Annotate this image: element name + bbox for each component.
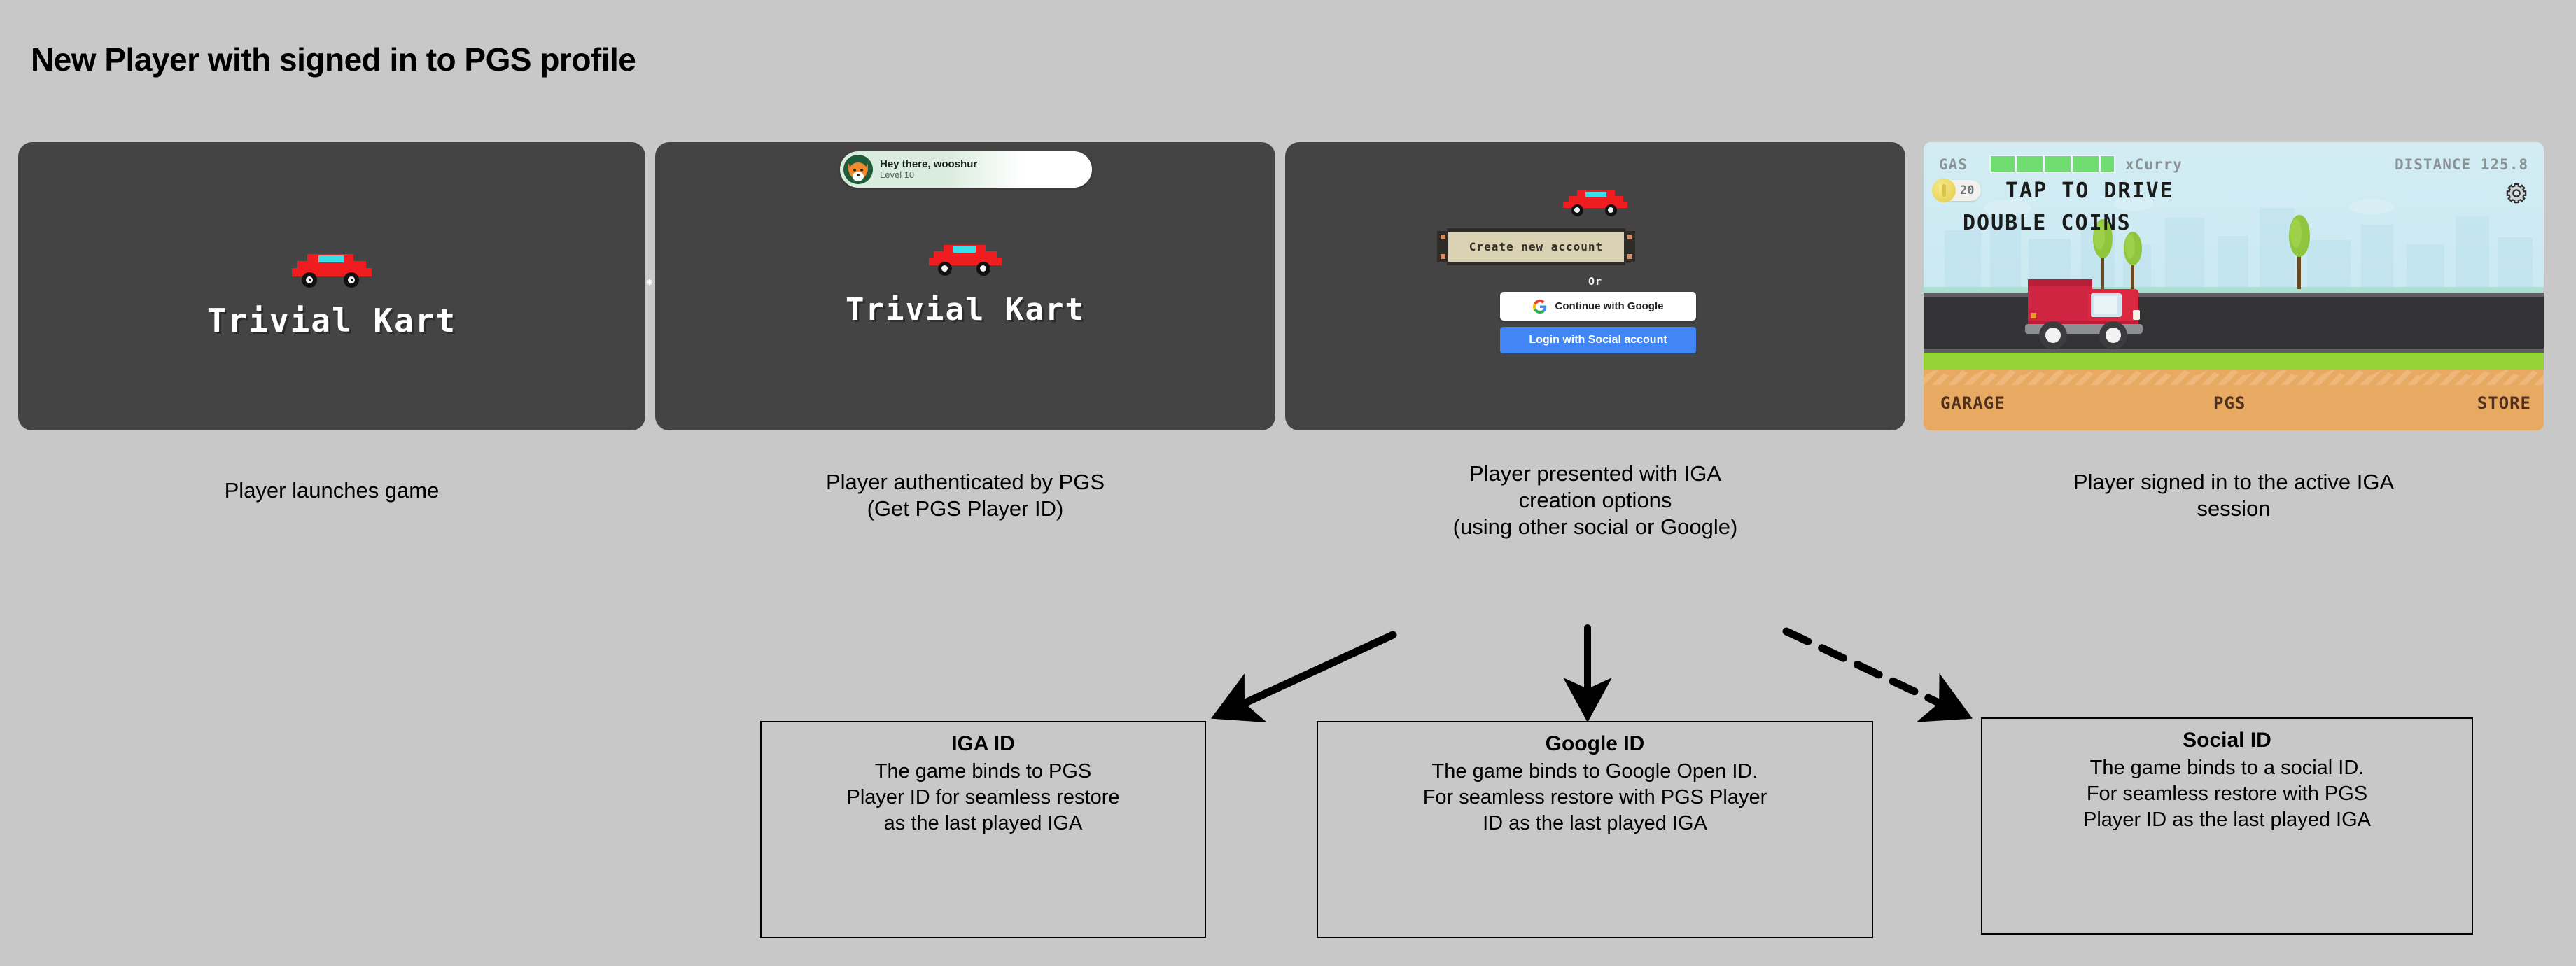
- login-with-social-button[interactable]: Login with Social account: [1500, 327, 1696, 353]
- caption-panel-3: Player presented with IGA creation optio…: [1285, 461, 1905, 540]
- splash-game-title: Trivial Kart: [655, 292, 1275, 328]
- horizon-strip: [1924, 287, 2544, 293]
- nav-item-pgs[interactable]: PGS: [2213, 393, 2246, 413]
- arrow-to-social-id: [1786, 631, 1966, 715]
- gas-label: GAS: [1939, 156, 1968, 173]
- tap-to-drive-headline: TAP TO DRIVE: [2005, 178, 2174, 203]
- or-separator-label: Or: [1285, 275, 1905, 288]
- continue-with-google-label: Continue with Google: [1555, 300, 1664, 312]
- tree-icon: [2286, 215, 2313, 289]
- gas-gauge: [1989, 155, 2115, 173]
- flow-box-body: The game binds to PGS Player ID for seam…: [771, 759, 1195, 836]
- coin-count-value: 20: [1960, 183, 1974, 197]
- create-new-account-label: Create new account: [1469, 240, 1603, 253]
- fox-avatar-icon: [843, 155, 873, 184]
- flow-box-body: The game binds to a social ID. For seaml…: [1992, 755, 2462, 833]
- caption-panel-2: Player authenticated by PGS (Get PGS Pla…: [655, 469, 1275, 522]
- splash-game-title: Trivial Kart: [18, 302, 645, 339]
- panel-pgs-authenticated: Hey there, wooshur Level 10 Trivial Kart: [655, 142, 1275, 430]
- coin-counter: 20: [1940, 180, 1981, 201]
- flow-box-social-id: Social ID The game binds to a social ID.…: [1981, 717, 2473, 934]
- login-with-social-label: Login with Social account: [1529, 334, 1667, 346]
- player-name-label: xCurry: [2125, 156, 2183, 173]
- flow-box-iga-id: IGA ID The game binds to PGS Player ID f…: [760, 721, 1206, 938]
- pgs-greeting-banner[interactable]: Hey there, wooshur Level 10: [840, 151, 1092, 188]
- distance-label: DISTANCE 125.8: [2395, 156, 2528, 173]
- flow-box-google-id: Google ID The game binds to Google Open …: [1317, 721, 1873, 938]
- flow-box-body: The game binds to Google Open ID. For se…: [1328, 759, 1862, 836]
- panel-iga-creation-options: Create new account Or Continue with Goog…: [1285, 142, 1905, 430]
- road-surface: [1924, 293, 2544, 353]
- google-g-icon: [1533, 300, 1547, 314]
- red-kart-icon: [924, 240, 1007, 275]
- nav-item-garage[interactable]: GARAGE: [1940, 393, 2005, 413]
- red-kart-icon: [286, 248, 377, 288]
- gear-icon[interactable]: [2506, 183, 2527, 204]
- red-kart-icon: [1559, 188, 1632, 216]
- flow-box-title: Google ID: [1328, 731, 1862, 757]
- caption-panel-1: Player launches game: [18, 477, 645, 504]
- panel-player-launches-game: Trivial Kart: [18, 142, 645, 430]
- panel-connector-icon: ⁕: [645, 277, 654, 288]
- panel-active-iga-session: GAS xCurry DISTANCE 125.8 20 TAP TO DRIV…: [1924, 142, 2544, 430]
- banner-end-right: [1624, 231, 1635, 262]
- double-coins-headline: DOUBLE COINS: [1963, 211, 2131, 235]
- pgs-level-text: Level 10: [880, 170, 977, 180]
- red-truck-sprite: [2021, 271, 2158, 353]
- page-title: New Player with signed in to PGS profile: [31, 41, 636, 78]
- nav-item-store[interactable]: STORE: [2477, 393, 2531, 413]
- coin-icon: [1932, 178, 1956, 202]
- create-new-account-button[interactable]: Create new account: [1437, 228, 1635, 265]
- flow-box-title: IGA ID: [771, 731, 1195, 757]
- pgs-greeting-text: Hey there, wooshur: [880, 159, 977, 170]
- caption-panel-4: Player signed in to the active IGA sessi…: [1924, 469, 2544, 522]
- arrow-to-iga-id: [1218, 635, 1393, 715]
- continue-with-google-button[interactable]: Continue with Google: [1500, 292, 1696, 321]
- flow-box-title: Social ID: [1992, 727, 2462, 754]
- diagram-canvas: New Player with signed in to PGS profile…: [0, 0, 2576, 966]
- banner-end-left: [1437, 231, 1448, 262]
